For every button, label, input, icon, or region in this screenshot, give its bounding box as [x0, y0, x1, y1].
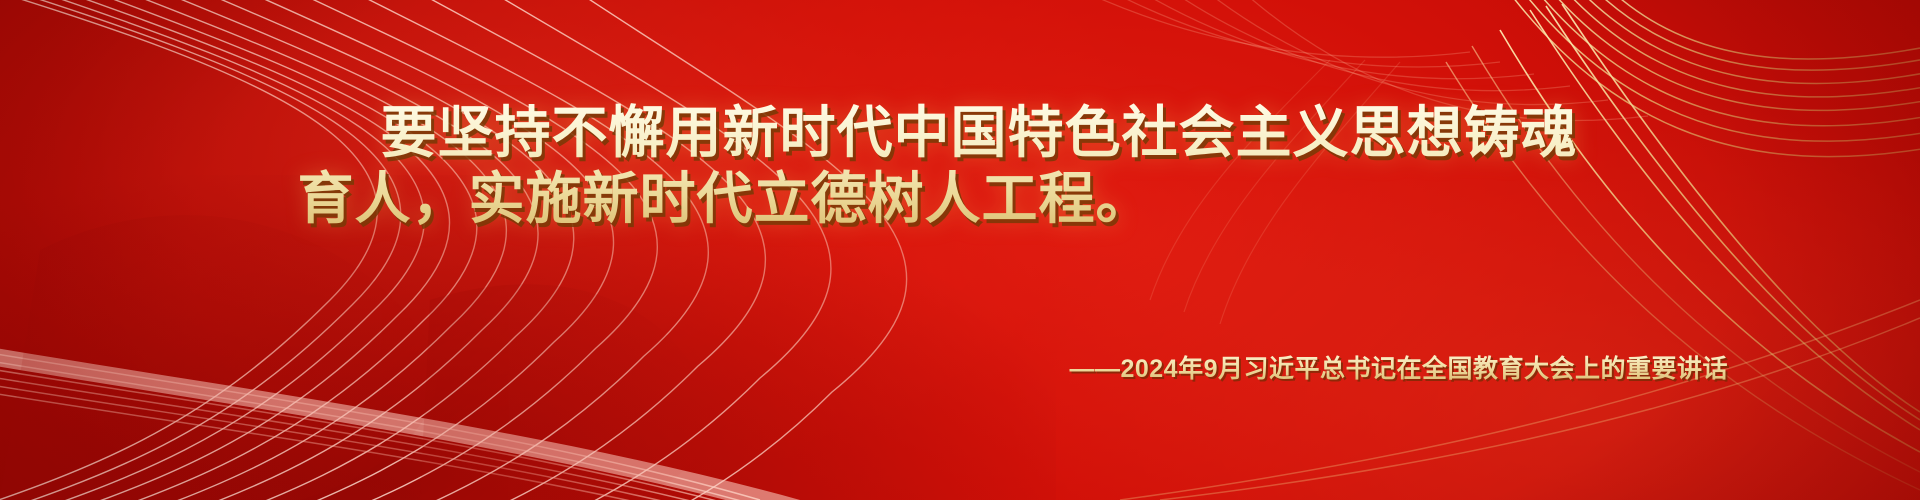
headline-line-1: 要坚持不懈用新时代中国特色社会主义思想铸魂: [0, 100, 1920, 166]
banner-root: 要坚持不懈用新时代中国特色社会主义思想铸魂 育人，实施新时代立德树人工程。 ——…: [0, 0, 1920, 500]
headline-line-2: 育人，实施新时代立德树人工程。: [0, 166, 1920, 232]
banner-headline: 要坚持不懈用新时代中国特色社会主义思想铸魂 育人，实施新时代立德树人工程。: [0, 100, 1920, 232]
banner-attribution: ——2024年9月习近平总书记在全国教育大会上的重要讲话: [0, 352, 1920, 386]
banner-content: 要坚持不懈用新时代中国特色社会主义思想铸魂 育人，实施新时代立德树人工程。 ——…: [0, 0, 1920, 500]
